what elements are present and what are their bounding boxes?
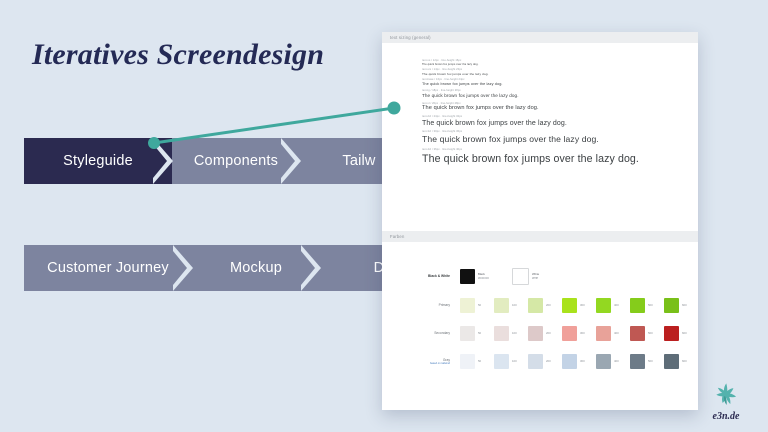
process-step-customer-journey[interactable]: Customer Journey xyxy=(24,245,192,291)
color-swatch-code: 300 xyxy=(577,332,585,336)
type-specimen-sample: The quick brown fox jumps over the lazy … xyxy=(422,63,682,67)
color-swatch-chip xyxy=(494,298,509,313)
type-specimen-row: text-sm / 14px · line-height 20pxThe qui… xyxy=(422,68,682,76)
type-specimen-sample: The quick brown fox jumps over the lazy … xyxy=(422,93,682,99)
swatch-group: 50100200300400500600700800900 xyxy=(460,326,698,341)
type-specimen-row: text-lg / 18px · line-height 28pxThe qui… xyxy=(422,89,682,99)
type-specimen-sample: The quick brown fox jumps over the lazy … xyxy=(422,72,682,76)
color-swatch-code: 100 xyxy=(509,360,517,364)
process-step-label: Customer Journey xyxy=(41,260,175,276)
swatch-group: 50100200300400500600700800900 xyxy=(460,298,698,313)
color-swatch[interactable]: 100 xyxy=(494,354,528,369)
color-row-sublabel: based on tailwind xyxy=(408,362,450,365)
color-swatch[interactable]: 500 xyxy=(630,354,664,369)
panel-section-title-colors: Farben xyxy=(382,231,698,242)
color-swatch-chip xyxy=(528,326,543,341)
chevron-notch-icon xyxy=(153,138,173,184)
color-swatch[interactable]: 300 xyxy=(562,354,596,369)
color-swatch-code: Black#000000 xyxy=(475,273,489,281)
color-row: Primary50100200300400500600700800900 xyxy=(408,298,698,313)
logo[interactable]: e3n.de xyxy=(698,380,754,422)
color-swatch-chip xyxy=(596,354,611,369)
color-swatch-code: 500 xyxy=(645,332,653,336)
process-step-mockup[interactable]: Mockup xyxy=(192,245,320,291)
color-swatch-chip xyxy=(460,298,475,313)
color-swatch-chip xyxy=(460,326,475,341)
chevron-notch-icon xyxy=(301,245,321,291)
color-swatch-code: 200 xyxy=(543,332,551,336)
color-swatch[interactable]: 500 xyxy=(630,326,664,341)
color-swatch-code: 200 xyxy=(543,304,551,308)
color-swatch[interactable]: 600 xyxy=(664,326,698,341)
color-swatch[interactable]: 400 xyxy=(596,326,630,341)
type-list: text-xs / 12px · line-height 16pxThe qui… xyxy=(422,59,682,166)
type-specimen-sample: The quick brown fox jumps over the lazy … xyxy=(422,119,682,128)
color-swatch-chip xyxy=(562,298,577,313)
color-swatch-chip xyxy=(630,298,645,313)
color-row: Black & WhiteBlack#000000White#ffffff xyxy=(408,268,698,285)
type-specimen-sample: The quick brown fox jumps over the lazy … xyxy=(422,82,682,87)
color-swatch-code: 500 xyxy=(645,304,653,308)
color-swatch-code: 50 xyxy=(475,332,481,336)
color-swatch-code: 300 xyxy=(577,304,585,308)
color-swatch-chip xyxy=(630,354,645,369)
color-swatch[interactable]: Black#000000 xyxy=(460,269,512,284)
color-rows: Black & WhiteBlack#000000White#ffffffPri… xyxy=(382,242,698,369)
color-swatch-code: 600 xyxy=(679,360,687,364)
process-row-1: Styleguide Components Tailw xyxy=(24,138,418,184)
color-swatch-chip xyxy=(528,354,543,369)
color-swatch[interactable]: 200 xyxy=(528,354,562,369)
color-swatch-chip xyxy=(664,326,679,341)
chevron-notch-icon xyxy=(173,245,193,291)
process-row-2: Customer Journey Mockup D xyxy=(24,245,438,291)
type-specimen-row: text-4xl / 36px · line-height 40pxThe qu… xyxy=(422,148,682,166)
type-specimen-row: text-2xl / 24px · line-height 32pxThe qu… xyxy=(422,115,682,128)
color-swatch-chip xyxy=(460,354,475,369)
type-specimen-sample: The quick brown fox jumps over the lazy … xyxy=(422,152,682,166)
color-swatch[interactable]: 50 xyxy=(460,354,494,369)
swatch-group: Black#000000White#ffffff xyxy=(460,268,564,285)
swatch-group: 50100200300400500600700800900 xyxy=(460,354,698,369)
color-swatch-chip xyxy=(562,354,577,369)
process-step-styleguide[interactable]: Styleguide xyxy=(24,138,172,184)
color-swatch-code: 100 xyxy=(509,304,517,308)
typography-specimen: text-xs / 12px · line-height 16pxThe qui… xyxy=(382,43,698,231)
color-swatch[interactable]: 400 xyxy=(596,298,630,313)
color-swatch[interactable]: 400 xyxy=(596,354,630,369)
color-swatch[interactable]: White#ffffff xyxy=(512,268,564,285)
color-row-label: Black & White xyxy=(408,274,460,278)
color-swatch-code: 400 xyxy=(611,332,619,336)
color-swatch[interactable]: 500 xyxy=(630,298,664,313)
color-swatch[interactable]: 600 xyxy=(664,354,698,369)
screenshot-panel[interactable]: text sizing (general) text-xs / 12px · l… xyxy=(382,32,698,410)
color-swatch[interactable]: 300 xyxy=(562,326,596,341)
color-swatch-code: 50 xyxy=(475,304,481,308)
color-swatch-code: 200 xyxy=(543,360,551,364)
color-swatch-code: 400 xyxy=(611,360,619,364)
color-palette: Black & WhiteBlack#000000White#ffffffPri… xyxy=(382,242,698,410)
color-swatch-code: 600 xyxy=(679,332,687,336)
color-swatch-chip xyxy=(494,354,509,369)
color-swatch-chip xyxy=(630,326,645,341)
color-row-label: Primary xyxy=(408,303,460,307)
color-swatch-chip xyxy=(596,298,611,313)
color-swatch-code: 600 xyxy=(679,304,687,308)
color-swatch[interactable]: 200 xyxy=(528,326,562,341)
color-swatch-chip xyxy=(664,354,679,369)
color-swatch-code: 50 xyxy=(475,360,481,364)
hummingbird-icon xyxy=(711,380,741,410)
color-swatch-code: 300 xyxy=(577,360,585,364)
process-step-label: Mockup xyxy=(224,260,288,276)
type-specimen-sample: The quick brown fox jumps over the lazy … xyxy=(422,134,682,146)
color-swatch-chip xyxy=(596,326,611,341)
color-swatch-code: 400 xyxy=(611,304,619,308)
type-specimen-row: text-base / 16px · line-height 24pxThe q… xyxy=(422,78,682,87)
page-title: Iteratives Screendesign xyxy=(32,38,324,72)
logo-text: e3n.de xyxy=(698,411,754,422)
color-swatch-chip xyxy=(528,298,543,313)
color-swatch-chip xyxy=(562,326,577,341)
color-swatch-chip xyxy=(664,298,679,313)
color-swatch-code: 500 xyxy=(645,360,653,364)
type-specimen-row: text-xs / 12px · line-height 16pxThe qui… xyxy=(422,59,682,66)
color-row: Secondary50100200300400500600700800900 xyxy=(408,326,698,341)
color-swatch-chip xyxy=(512,268,529,285)
type-specimen-row: text-xl / 20px · line-height 28pxThe qui… xyxy=(422,102,682,113)
color-swatch-chip xyxy=(494,326,509,341)
color-swatch[interactable]: 100 xyxy=(494,298,528,313)
color-row-label: Secondary xyxy=(408,331,460,335)
color-row: Graybased on tailwind5010020030040050060… xyxy=(408,354,698,369)
process-step-label: Tailw xyxy=(336,153,381,169)
color-row-label: Graybased on tailwind xyxy=(408,358,460,366)
type-specimen-row: text-3xl / 30px · line-height 36pxThe qu… xyxy=(422,130,682,145)
color-swatch[interactable]: 100 xyxy=(494,326,528,341)
color-swatch-chip xyxy=(460,269,475,284)
color-swatch-code: White#ffffff xyxy=(529,273,539,281)
process-step-label: Components xyxy=(188,153,284,169)
color-swatch-code: 100 xyxy=(509,332,517,336)
process-step-components[interactable]: Components xyxy=(172,138,300,184)
process-step-label: Styleguide xyxy=(57,153,139,169)
type-specimen-sample: The quick brown fox jumps over the lazy … xyxy=(422,105,682,113)
color-swatch[interactable]: 200 xyxy=(528,298,562,313)
color-swatch[interactable]: 300 xyxy=(562,298,596,313)
color-swatch[interactable]: 600 xyxy=(664,298,698,313)
color-swatch[interactable]: 50 xyxy=(460,298,494,313)
color-swatch[interactable]: 50 xyxy=(460,326,494,341)
panel-section-title-typography: text sizing (general) xyxy=(382,32,698,43)
slide-canvas: Iteratives Screendesign Styleguide Compo… xyxy=(0,0,768,432)
